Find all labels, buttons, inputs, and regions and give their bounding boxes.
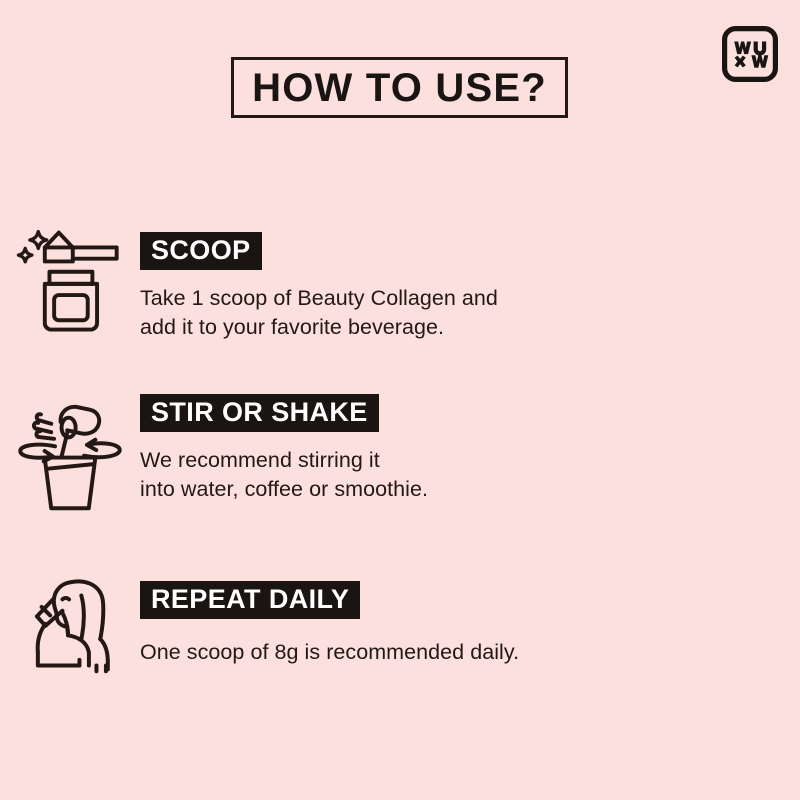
step-icon-cell — [0, 557, 140, 680]
step-icon-cell — [0, 382, 140, 517]
step-description-scoop: Take 1 scoop of Beauty Collagen and add … — [140, 284, 498, 341]
how-to-use-infographic: { "page": { "background_color": "#fbe0dd… — [0, 0, 800, 800]
step-description-repeat-daily: One scoop of 8g is recommended daily. — [140, 638, 519, 667]
wuxw-logo-icon — [722, 26, 778, 82]
step-label-stir-or-shake: STIR OR SHAKE — [140, 394, 379, 432]
step-text-cell: SCOOP Take 1 scoop of Beauty Collagen an… — [140, 212, 498, 341]
step-description-stir-or-shake: We recommend stirring it into water, cof… — [140, 446, 428, 503]
step-text-cell: REPEAT DAILY One scoop of 8g is recommen… — [140, 557, 519, 667]
woman-drinking-icon — [13, 571, 127, 680]
scoop-jar-icon — [14, 216, 126, 339]
step-item-scoop: SCOOP Take 1 scoop of Beauty Collagen an… — [0, 212, 800, 382]
step-text-cell: STIR OR SHAKE We recommend stirring it i… — [140, 382, 428, 503]
page-title-box: HOW TO USE? — [231, 57, 568, 118]
step-label-repeat-daily: REPEAT DAILY — [140, 581, 360, 619]
step-item-repeat-daily: REPEAT DAILY One scoop of 8g is recommen… — [0, 557, 800, 707]
stir-spoon-glass-icon — [9, 390, 131, 517]
step-label-scoop: SCOOP — [140, 232, 262, 270]
step-item-stir-or-shake: STIR OR SHAKE We recommend stirring it i… — [0, 382, 800, 557]
steps-list: SCOOP Take 1 scoop of Beauty Collagen an… — [0, 212, 800, 707]
step-icon-cell — [0, 212, 140, 339]
page-title: HOW TO USE? — [252, 68, 547, 108]
